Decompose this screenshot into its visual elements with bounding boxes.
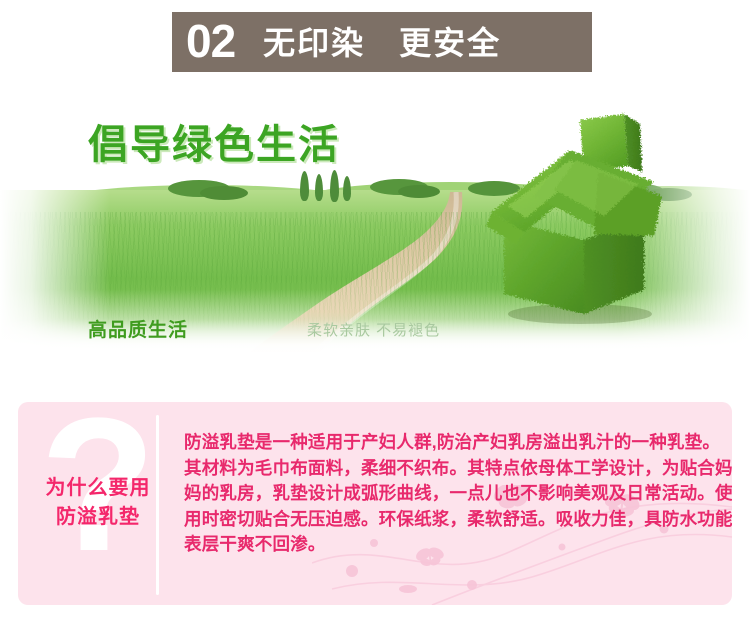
section-number: 02	[186, 18, 235, 64]
caption-sub: 柔软亲肤 不易褪色	[307, 319, 440, 340]
grass-house-icon	[472, 108, 684, 340]
paragraph-line: 防溢乳垫是一种适用于产妇人群,防治产妇乳房溢出乳汁的一种乳垫。	[184, 430, 730, 456]
green-headline: 倡导绿色生活	[88, 112, 340, 170]
section-title: 无印染 更安全	[263, 18, 501, 64]
description-paragraph: 防溢乳垫是一种适用于产妇人群,防治产妇乳房溢出乳汁的一种乳垫。 其材料为毛巾布面…	[184, 430, 730, 558]
pink-info-panel: ? 为什么要用 防溢乳垫 防溢乳垫是一种适用于产妇人群,防治产妇乳房溢出乳汁的一…	[18, 402, 732, 605]
paragraph-line: 用时密切贴合无压迫感。环保纸浆，柔软舒适。吸收力佳，具防水功能	[184, 507, 730, 533]
caption-main: 高品质生活	[88, 315, 188, 342]
why-use-label-line1: 为什么要用	[28, 474, 168, 503]
header-banner: 02 无印染 更安全	[172, 12, 592, 72]
paragraph-line: 妈的乳房，乳垫设计成弧形曲线，一点儿也不影响美观及日常活动。使	[184, 481, 730, 507]
why-use-label: 为什么要用 防溢乳垫	[28, 474, 168, 532]
paragraph-line: 其材料为毛巾布面料，柔细不织布。其特点依母体工学设计，为贴合妈	[184, 456, 730, 482]
tree-clump-2	[200, 186, 248, 200]
why-use-label-line2: 防溢乳垫	[28, 503, 168, 532]
panel-divider	[156, 415, 159, 595]
paragraph-line: 表层干爽不回渗。	[184, 532, 730, 558]
